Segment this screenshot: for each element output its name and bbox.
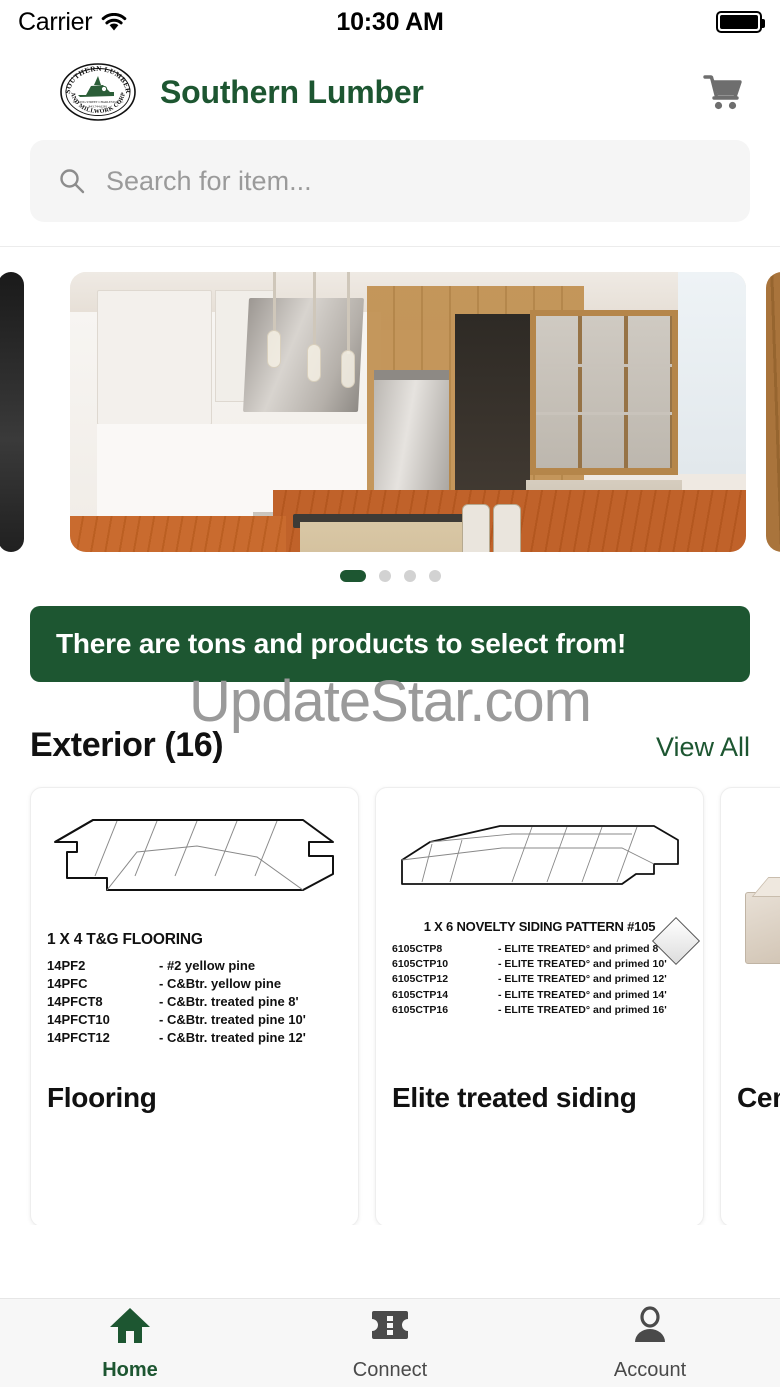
carousel-dot-2[interactable] — [379, 570, 391, 582]
product-card-title: Elite treated siding — [392, 1082, 687, 1114]
person-icon — [628, 1305, 672, 1350]
nav-item-account[interactable]: Account — [520, 1305, 780, 1382]
shopping-cart-icon[interactable] — [694, 64, 750, 120]
product-card-title: Cem — [737, 1082, 780, 1114]
spec-desc: - ELITE TREATED° and primed 12' — [498, 972, 667, 987]
spec-desc: - C&Btr. yellow pine — [159, 975, 281, 993]
spec-row: 14PFC - C&Btr. yellow pine — [47, 975, 342, 993]
svg-text:197 KING STREET CHARLESTON SC: 197 KING STREET CHARLESTON SC — [73, 100, 124, 104]
spec-title: 1 X 4 T&G FLOORING — [47, 931, 342, 949]
product-card[interactable]: 1 X 4 T&G FLOORING 14PF2 - #2 yellow pin… — [30, 787, 359, 1225]
carousel-track[interactable] — [0, 272, 780, 552]
spec-row: 6105CTP10 - ELITE TREATED° and primed 10… — [392, 957, 687, 972]
spec-code: 14PF2 — [47, 957, 159, 975]
search-input[interactable] — [106, 166, 722, 197]
spec-desc: - C&Btr. treated pine 12' — [159, 1029, 306, 1047]
spec-code: 6105CTP12 — [392, 972, 498, 987]
carousel-slide-active[interactable] — [70, 272, 746, 552]
cement-board-photo — [737, 806, 780, 1056]
spec-row: 6105CTP8 - ELITE TREATED° and primed 8' — [392, 942, 687, 957]
spec-title: 1 X 6 NOVELTY SIDING PATTERN #105 — [392, 919, 687, 934]
spec-desc: - #2 yellow pine — [159, 957, 255, 975]
spec-list: 6105CTP8 - ELITE TREATED° and primed 8' … — [392, 942, 687, 1018]
search-section — [0, 140, 780, 246]
carousel-slide-previous[interactable] — [0, 272, 24, 552]
nav-label-connect: Connect — [353, 1359, 428, 1382]
spec-row: 14PFCT10 - C&Btr. treated pine 10' — [47, 1011, 342, 1029]
bottom-navigation: Home Connect Account — [0, 1298, 780, 1387]
spec-code: 6105CTP8 — [392, 942, 498, 957]
battery-full-icon — [716, 11, 762, 33]
spec-desc: - C&Btr. treated pine 10' — [159, 1011, 306, 1029]
spec-code: 6105CTP16 — [392, 1003, 498, 1018]
product-card-list[interactable]: 1 X 4 T&G FLOORING 14PF2 - #2 yellow pin… — [0, 765, 780, 1225]
spec-code: 14PFCT12 — [47, 1029, 159, 1047]
nav-label-account: Account — [614, 1359, 686, 1382]
view-all-link[interactable]: View All — [656, 732, 750, 763]
promo-banner-text: There are tons and products to select fr… — [56, 628, 626, 660]
ticket-icon — [368, 1305, 412, 1350]
spec-code: 14PFCT10 — [47, 1011, 159, 1029]
novelty-siding-board-diagram: 1 X 6 NOVELTY SIDING PATTERN #105 6105CT… — [392, 806, 687, 1056]
spec-row: 14PFCT8 - C&Btr. treated pine 8' — [47, 993, 342, 1011]
spec-code: 14PFCT8 — [47, 993, 159, 1011]
spec-desc: - ELITE TREATED° and primed 8' — [498, 942, 661, 957]
nav-item-connect[interactable]: Connect — [260, 1305, 520, 1382]
spec-row: 14PF2 - #2 yellow pine — [47, 957, 342, 975]
spec-desc: - C&Btr. treated pine 8' — [159, 993, 299, 1011]
product-card[interactable]: Cem — [720, 787, 780, 1225]
section-header-exterior: Exterior (16) View All — [0, 682, 780, 765]
carousel-dot-4[interactable] — [429, 570, 441, 582]
spec-desc: - ELITE TREATED° and primed 10' — [498, 957, 667, 972]
carousel-slide-next[interactable] — [766, 272, 780, 552]
section-title: Exterior (16) — [30, 726, 223, 765]
brand-title: Southern Lumber — [160, 74, 424, 111]
svg-text:843.744.6281: 843.744.6281 — [89, 105, 108, 109]
carousel-dot-3[interactable] — [404, 570, 416, 582]
spec-desc: - ELITE TREATED° and primed 16' — [498, 1003, 667, 1018]
home-icon — [108, 1305, 152, 1350]
spec-row: 6105CTP12 - ELITE TREATED° and primed 12… — [392, 972, 687, 987]
carousel-dot-1[interactable] — [340, 570, 366, 582]
spec-code: 14PFC — [47, 975, 159, 993]
spec-list: 14PF2 - #2 yellow pine 14PFC - C&Btr. ye… — [47, 957, 342, 1047]
spec-code: 6105CTP14 — [392, 988, 498, 1003]
spec-code: 6105CTP10 — [392, 957, 498, 972]
carousel-dots[interactable] — [0, 552, 780, 582]
app-header: SOUTHERN LUMBER AND MILLWORK CORP 197 KI… — [0, 44, 780, 140]
nav-label-home: Home — [102, 1359, 158, 1382]
spec-desc: - ELITE TREATED° and primed 14' — [498, 988, 667, 1003]
spec-row: 6105CTP16 - ELITE TREATED° and primed 16… — [392, 1003, 687, 1018]
product-card-title: Flooring — [47, 1082, 342, 1114]
spec-row: 14PFCT12 - C&Btr. treated pine 12' — [47, 1029, 342, 1047]
search-icon — [58, 167, 86, 195]
nav-item-home[interactable]: Home — [0, 1305, 260, 1382]
search-box[interactable] — [30, 140, 750, 222]
status-bar: Carrier 10:30 AM — [0, 0, 780, 44]
hero-carousel[interactable] — [0, 247, 780, 582]
status-bar-time: 10:30 AM — [0, 8, 780, 37]
status-bar-right — [716, 11, 762, 33]
spec-row: 6105CTP14 - ELITE TREATED° and primed 14… — [392, 988, 687, 1003]
southern-lumber-logo: SOUTHERN LUMBER AND MILLWORK CORP 197 KI… — [58, 61, 138, 123]
promo-banner: There are tons and products to select fr… — [30, 606, 750, 682]
kitchen-interior-photo — [70, 272, 746, 552]
product-card[interactable]: 1 X 6 NOVELTY SIDING PATTERN #105 6105CT… — [375, 787, 704, 1225]
tongue-and-groove-board-diagram: 1 X 4 T&G FLOORING 14PF2 - #2 yellow pin… — [47, 806, 342, 1056]
